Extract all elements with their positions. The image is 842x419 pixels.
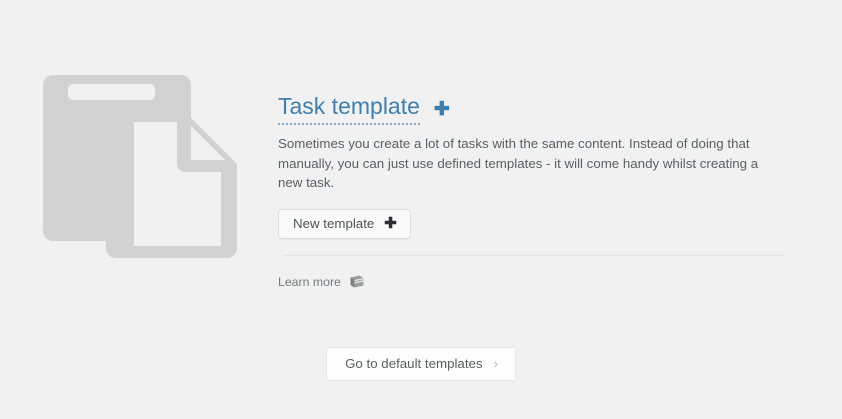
new-template-button-label: New template bbox=[293, 216, 374, 231]
learn-more-link[interactable]: Learn more bbox=[278, 275, 364, 289]
go-to-default-templates-button[interactable]: Go to default templates › bbox=[326, 347, 516, 381]
section-divider bbox=[284, 255, 784, 256]
page-title: Task template bbox=[278, 92, 420, 125]
task-template-documents-illustration bbox=[43, 58, 257, 272]
learn-more-label: Learn more bbox=[278, 275, 341, 289]
task-template-empty-state: Task template ✚ Sometimes you create a l… bbox=[0, 0, 842, 419]
empty-state-description: Sometimes you create a lot of tasks with… bbox=[278, 134, 784, 193]
title-row: Task template ✚ bbox=[278, 92, 790, 125]
plus-icon[interactable]: ✚ bbox=[434, 100, 450, 125]
plus-icon: ✚ bbox=[384, 217, 397, 230]
book-icon bbox=[350, 275, 364, 288]
empty-state-text-column: Task template ✚ Sometimes you create a l… bbox=[278, 92, 790, 291]
default-templates-button-container: Go to default templates › bbox=[0, 347, 842, 381]
new-template-button[interactable]: New template ✚ bbox=[278, 209, 411, 239]
go-to-default-templates-label: Go to default templates bbox=[345, 356, 482, 371]
chevron-right-icon: › bbox=[494, 357, 498, 370]
